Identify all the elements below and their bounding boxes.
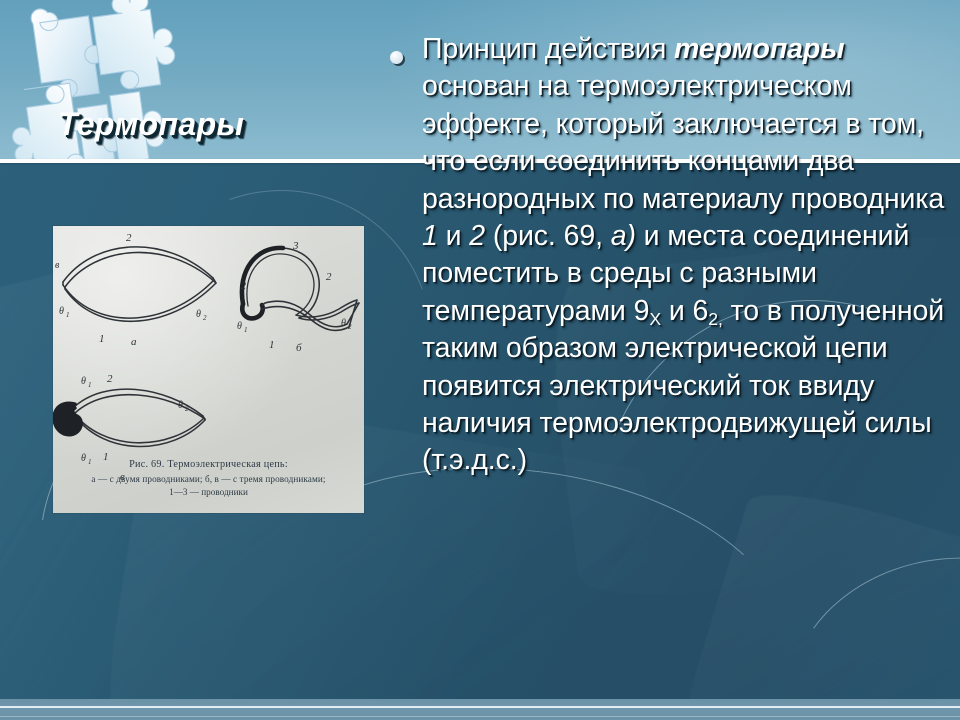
svg-text:θ: θ bbox=[178, 400, 183, 411]
figure-caption-line-1: Рис. 69. Термоэлектрическая цепь: bbox=[53, 458, 364, 472]
svg-text:2: 2 bbox=[185, 405, 189, 413]
svg-text:θ: θ bbox=[81, 376, 86, 387]
presentation-slide: Термопары bbox=[0, 0, 960, 720]
list-item: Принцип действия термопары основан на те… bbox=[386, 31, 952, 480]
slide-body: Принцип действия термопары основан на те… bbox=[386, 31, 952, 480]
svg-text:θ: θ bbox=[196, 309, 201, 320]
svg-text:2: 2 bbox=[241, 281, 246, 292]
svg-text:1: 1 bbox=[66, 311, 70, 319]
svg-text:2: 2 bbox=[348, 323, 352, 331]
figure-thermoelectric-circuit: 2 в θ1 θ2 1 а 3 2 2 θ1 θ2 1 б θ1 2 θ2 θ1… bbox=[53, 226, 364, 513]
page-title: Термопары bbox=[58, 106, 244, 143]
svg-text:2: 2 bbox=[326, 271, 332, 283]
svg-text:2: 2 bbox=[203, 314, 207, 322]
svg-text:в: в bbox=[55, 260, 60, 271]
body-paragraph: Принцип действия термопары основан на те… bbox=[422, 31, 952, 480]
svg-text:2: 2 bbox=[107, 373, 113, 385]
bullet-dot-icon bbox=[390, 51, 403, 64]
svg-text:1: 1 bbox=[99, 333, 105, 345]
svg-text:θ: θ bbox=[59, 306, 64, 317]
slide-bottom-rule-secondary bbox=[0, 716, 960, 717]
svg-text:1: 1 bbox=[244, 326, 248, 334]
figure-caption: Рис. 69. Термоэлектрическая цепь: а — с … bbox=[53, 458, 364, 499]
svg-text:1: 1 bbox=[269, 339, 275, 351]
figure-caption-line-3: 1—3 — проводники bbox=[53, 486, 364, 499]
svg-text:3: 3 bbox=[292, 240, 299, 252]
svg-text:θ: θ bbox=[237, 321, 242, 332]
figure-caption-line-2: а — с двумя проводниками; б, в — с тремя… bbox=[53, 473, 364, 486]
svg-text:а: а bbox=[131, 336, 137, 348]
svg-text:2: 2 bbox=[126, 232, 132, 244]
svg-text:б: б bbox=[296, 342, 302, 354]
svg-text:1: 1 bbox=[88, 381, 92, 389]
svg-text:θ: θ bbox=[341, 318, 346, 329]
slide-bottom-rule bbox=[0, 706, 960, 708]
